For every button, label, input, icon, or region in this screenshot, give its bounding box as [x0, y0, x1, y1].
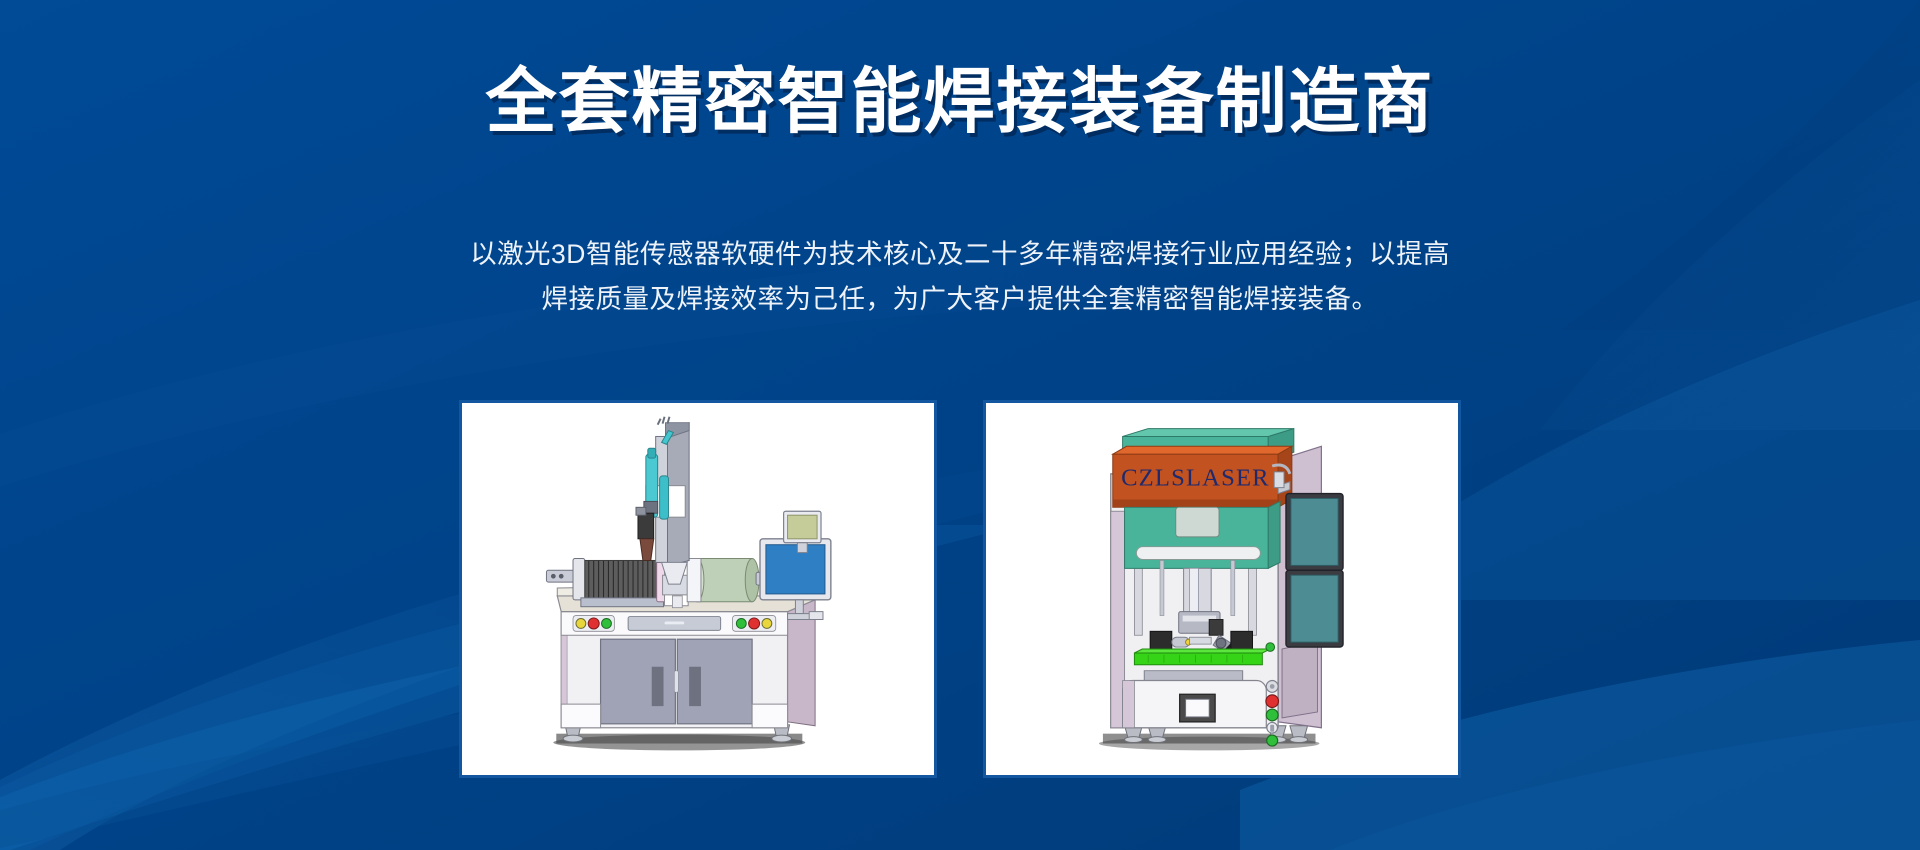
hero-banner: 全套精密智能焊接装备制造商 以激光3D智能传感器软硬件为技术核心及二十多年精密焊…: [0, 0, 1920, 850]
headline-container: 全套精密智能焊接装备制造商: [0, 66, 1920, 140]
page-title: 全套精密智能焊接装备制造商: [485, 66, 1434, 140]
subtitle-line-2: 焊接质量及焊接效率为己任，为广大客户提供全套精密智能焊接装备。: [395, 277, 1525, 322]
benchtop-welder-illustration: [462, 403, 934, 775]
cabinet-welder-illustration: CZLSLASER: [986, 403, 1458, 775]
product-card-cabinet-welder[interactable]: 立式精密激光焊接设备: [983, 400, 1461, 778]
subtitle-container: 以激光3D智能传感器软硬件为技术核心及二十多年精密焊接行业应用经验；以提高 焊接…: [395, 232, 1525, 322]
brand-label-czlslaser: CZLSLASER: [1121, 465, 1270, 492]
product-gallery: 台式精密激光焊接设备: [459, 400, 1461, 778]
product-card-benchtop-welder[interactable]: 台式精密激光焊接设备: [459, 400, 937, 778]
subtitle-line-1: 以激光3D智能传感器软硬件为技术核心及二十多年精密焊接行业应用经验；以提高: [395, 232, 1525, 277]
